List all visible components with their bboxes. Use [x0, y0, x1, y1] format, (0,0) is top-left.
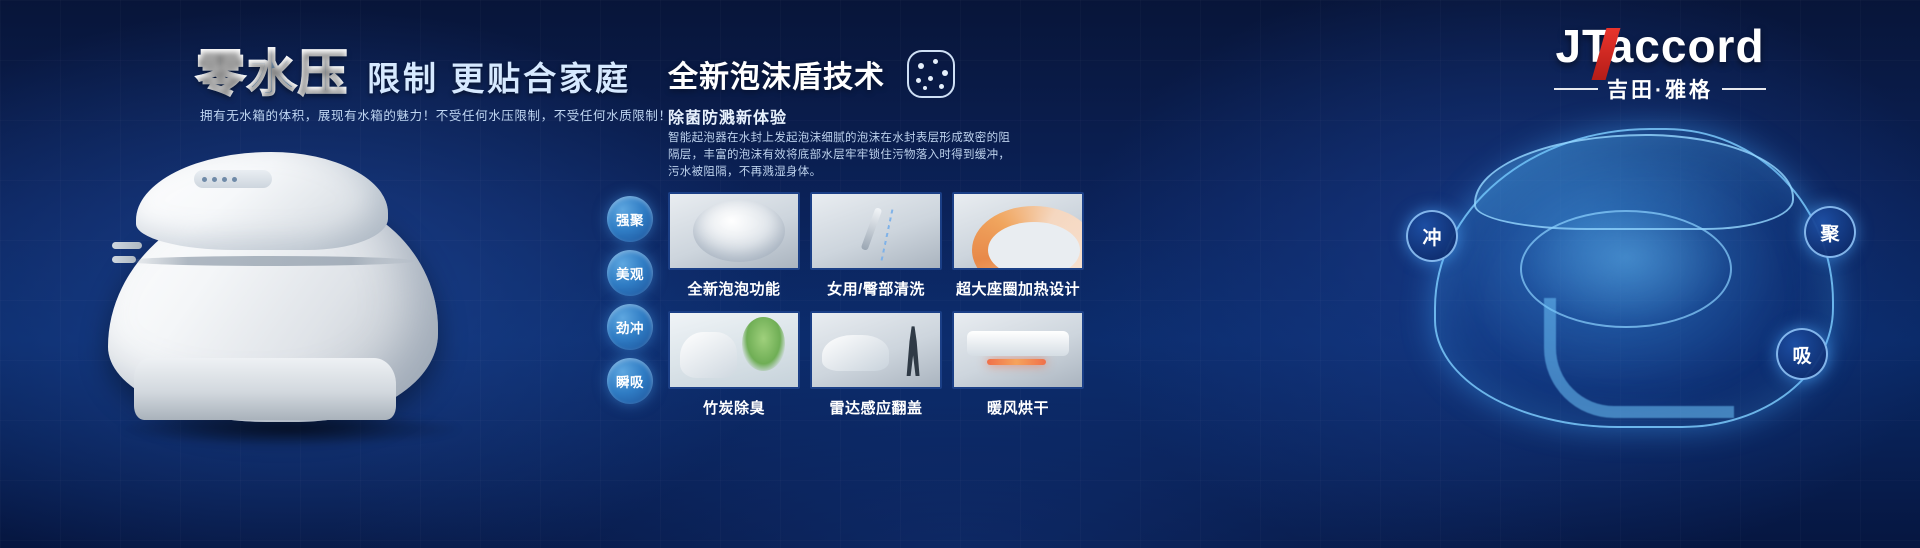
bubble-dot-icon [918, 63, 924, 69]
headline-sub-text: 限制 更贴合家庭 [367, 52, 631, 100]
feature-cell-foam[interactable]: 全新泡泡功能 [668, 192, 800, 299]
promo-banner: 零水压 限制 更贴合家庭 拥有无水箱的体积，展现有水箱的魅力！不受任何水压限制，… [0, 0, 1920, 548]
feature-cell-radar[interactable]: 雷达感应翻盖 [810, 311, 942, 418]
brand-logo[interactable]: JTaccord 吉田·雅格 [1510, 22, 1810, 104]
feature-cell-bamboo[interactable]: 竹炭除臭 [668, 311, 800, 418]
logo-wordmark: JTaccord [1555, 22, 1764, 70]
bubble-dot-icon [942, 70, 948, 76]
feature-cell-dryer[interactable]: 暖风烘干 [952, 311, 1084, 418]
toilet-seam-line [124, 256, 416, 266]
toilet-bowl-foam-photo [668, 192, 800, 270]
feature-cell-wash[interactable]: 女用/臀部清洗 [810, 192, 942, 299]
wash-nozzle-photo [810, 192, 942, 270]
bamboo-charcoal-deodorize-photo [668, 311, 800, 389]
feature-label: 雷达感应翻盖 [810, 397, 942, 418]
bubble-dot-icon [933, 59, 938, 64]
heated-seat-ring-photo [952, 192, 1084, 270]
feature-badge-meiguan[interactable]: 美观 [607, 250, 653, 296]
logo-rule-left [1554, 88, 1598, 90]
feature-cell-heated-seat[interactable]: 超大座圈加热设计 [952, 192, 1084, 299]
panel-dot-icon [202, 177, 207, 182]
feature-badge-qiangju[interactable]: 强聚 [607, 196, 653, 242]
panel-dot-icon [232, 177, 237, 182]
toilet-panel-buttons [202, 175, 264, 183]
center-title-row: 全新泡沫盾技术 [668, 50, 955, 98]
logo-chinese-name: 吉田·雅格 [1607, 74, 1713, 104]
feature-label: 全新泡泡功能 [668, 278, 800, 299]
bubble-dot-icon [916, 78, 921, 83]
feature-grid: 全新泡泡功能 女用/臀部清洗 超大座圈加热设计 竹炭除臭 雷达感应翻盖 暖风烘干 [668, 192, 1084, 418]
xray-trapway-outline [1544, 298, 1734, 418]
bubble-dot-icon [939, 84, 944, 89]
feature-badge-column: 强聚 美观 劲冲 瞬吸 [607, 196, 653, 412]
feature-label: 女用/臀部清洗 [810, 278, 942, 299]
toilet-side-button-secondary [112, 256, 136, 263]
toilet-lid-shape [136, 152, 388, 250]
logo-chinese-row: 吉田·雅格 [1510, 74, 1810, 104]
feature-label: 竹炭除臭 [668, 397, 800, 418]
toilet-base-shape [134, 358, 396, 420]
left-description-text: 拥有无水箱的体积，展现有水箱的魅力！不受任何水压限制，不受任何水质限制！ [200, 105, 672, 124]
center-paragraph-text: 智能起泡器在水封上发起泡沫细腻的泡沫在水封表层形成致密的阻隔层，丰富的泡沫有效将… [668, 130, 1020, 181]
bubble-dot-icon [923, 86, 927, 90]
xray-badge-xi[interactable]: 吸 [1776, 328, 1828, 380]
left-panel: 零水压 限制 更贴合家庭 拥有无水箱的体积，展现有水箱的魅力！不受任何水压限制，… [0, 0, 640, 548]
panel-dot-icon [212, 177, 217, 182]
panel-dot-icon [222, 177, 227, 182]
feature-label: 暖风烘干 [952, 397, 1084, 418]
left-headline: 零水压 限制 更贴合家庭 [196, 34, 631, 105]
center-subtitle-text: 除菌防溅新体验 [668, 104, 787, 128]
toilet-side-button [112, 242, 142, 249]
headline-main-text: 零水压 [196, 34, 349, 105]
bubble-dot-icon [928, 76, 933, 81]
xray-badge-chong[interactable]: 冲 [1406, 210, 1458, 262]
radar-sensor-lid-photo [810, 311, 942, 389]
feature-badge-jingchong[interactable]: 劲冲 [607, 304, 653, 350]
xray-badge-ju[interactable]: 聚 [1804, 206, 1856, 258]
warm-air-dryer-photo [952, 311, 1084, 389]
feature-badge-shunxi[interactable]: 瞬吸 [607, 358, 653, 404]
xray-toilet-cutaway: 冲 聚 吸 [1424, 118, 1844, 458]
feature-label: 超大座圈加热设计 [952, 278, 1084, 299]
center-panel: 全新泡沫盾技术 除菌防溅新体验 智能起泡器在水封上发起泡沫细腻的泡沫在水封表层形… [660, 0, 1240, 548]
center-title-text: 全新泡沫盾技术 [668, 52, 885, 96]
logo-rule-right [1722, 88, 1766, 90]
right-panel: JTaccord 吉田·雅格 冲 聚 吸 [1360, 0, 1920, 548]
smart-toilet-product-image [90, 130, 490, 460]
foam-bubble-icon [907, 50, 955, 98]
